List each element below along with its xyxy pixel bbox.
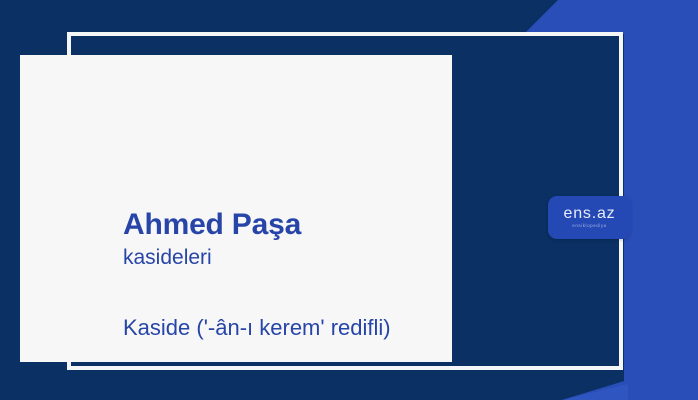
content-card: Ahmed Paşa kasideleri Kaside ('-ân-ı ker… xyxy=(20,55,452,362)
slide-canvas: Ahmed Paşa kasideleri Kaside ('-ân-ı ker… xyxy=(0,0,698,400)
logo-tagline: ensiklopediya xyxy=(572,224,606,229)
background-blue-right-panel xyxy=(624,0,698,400)
ens-az-logo-badge[interactable]: ens.az ensiklopediya xyxy=(548,196,631,239)
logo-wordmark: ens.az xyxy=(564,206,616,222)
work-title: Kaside ('-ân-ı kerem' redifli) xyxy=(123,314,473,343)
title-text-block: Ahmed Paşa kasideleri Kaside ('-ân-ı ker… xyxy=(123,207,473,342)
collection-name: kasideleri xyxy=(123,244,473,271)
author-name: Ahmed Paşa xyxy=(123,207,473,242)
